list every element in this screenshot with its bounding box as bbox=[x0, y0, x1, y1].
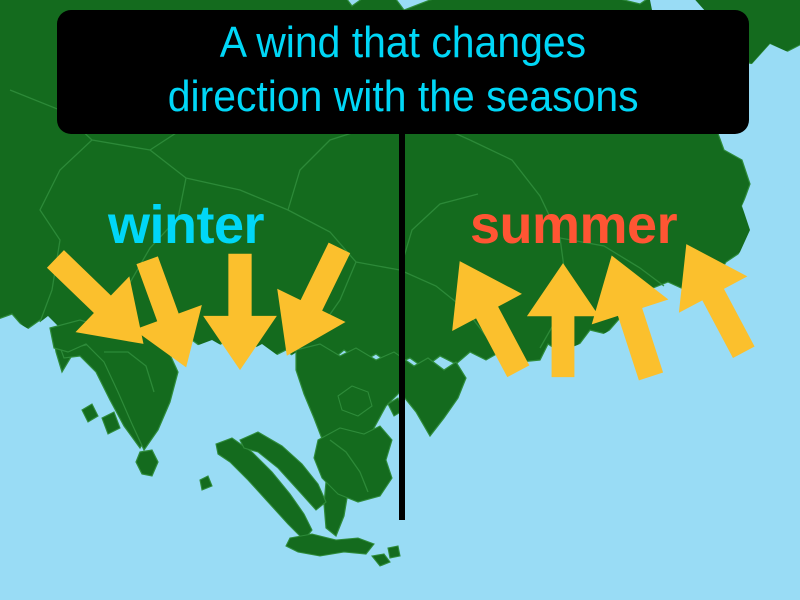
season-label-winter: winter bbox=[108, 198, 264, 252]
definition-graphic: winter bbox=[0, 0, 800, 600]
panel-divider bbox=[399, 134, 405, 520]
season-label-summer: summer bbox=[470, 198, 677, 252]
definition-line-1: A wind that changes bbox=[220, 16, 586, 70]
definition-banner: A wind that changes direction with the s… bbox=[57, 10, 749, 134]
definition-line-2: direction with the seasons bbox=[168, 70, 639, 124]
